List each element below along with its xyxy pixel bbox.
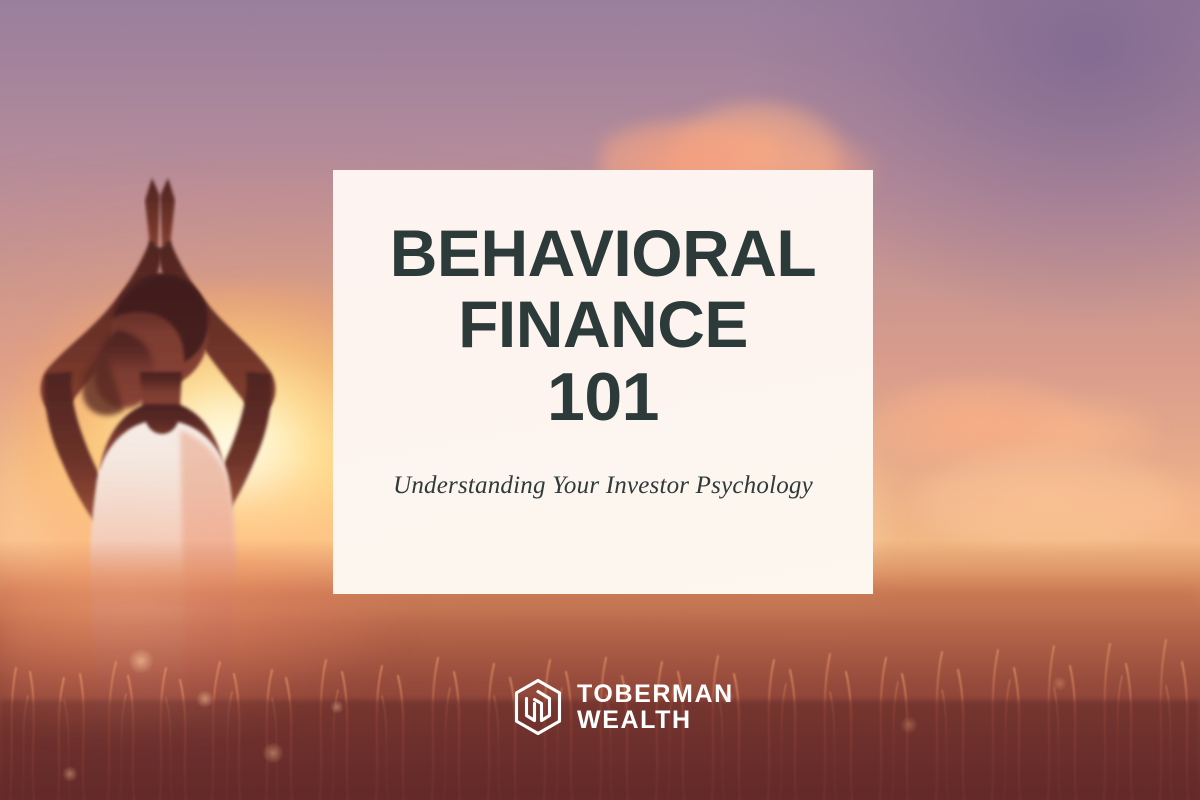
brand-wordmark: TOBERMAN WEALTH: [577, 681, 734, 734]
cloud-right-lower: [900, 440, 1200, 550]
toberman-hexagon-icon: [512, 678, 564, 736]
brand-logo[interactable]: TOBERMAN WEALTH: [512, 678, 734, 736]
brand-name-line-1: TOBERMAN: [577, 681, 734, 708]
page-subtitle: Understanding Your Investor Psychology: [393, 472, 813, 500]
page-title: BEHAVIORAL FINANCE 101: [390, 222, 816, 430]
hero-banner: BEHAVIORAL FINANCE 101 Understanding You…: [0, 0, 1200, 800]
title-line-1: BEHAVIORAL: [390, 216, 816, 290]
brand-name-line-2: WEALTH: [577, 707, 734, 734]
title-card: BEHAVIORAL FINANCE 101 Understanding You…: [333, 170, 873, 594]
title-line-3: 101: [390, 365, 816, 430]
title-line-2: FINANCE: [390, 293, 816, 356]
